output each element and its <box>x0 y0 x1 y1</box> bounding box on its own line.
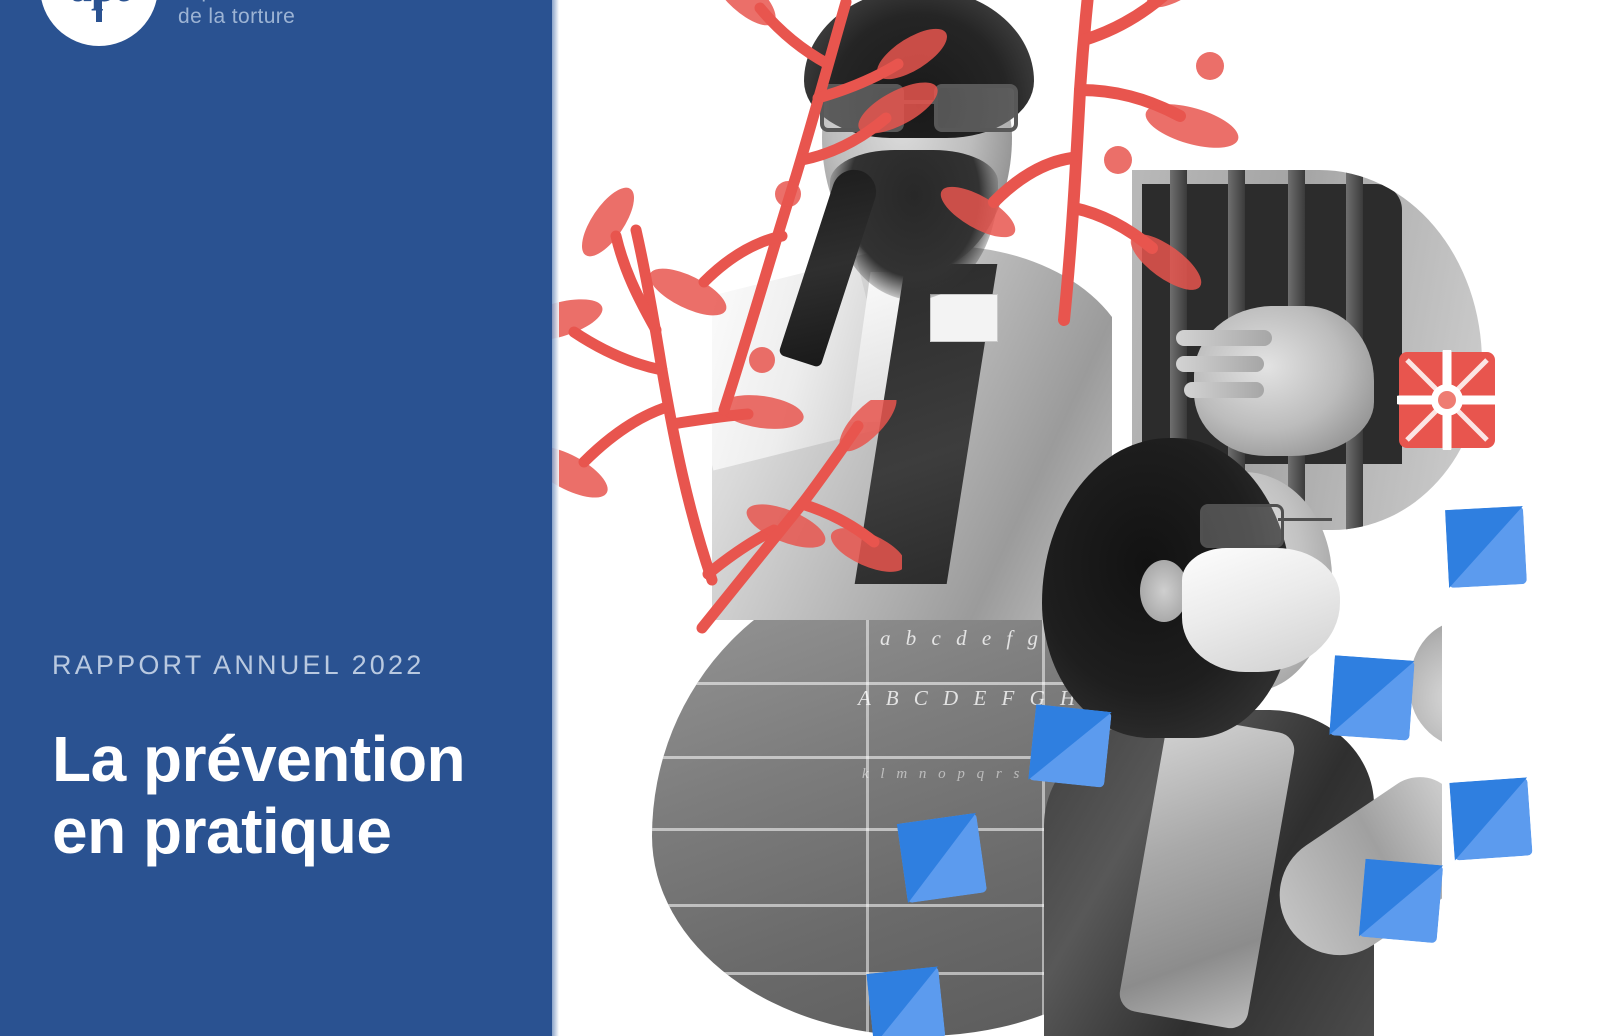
finger <box>1184 382 1264 398</box>
apt-logo: apt la prévention de la torture <box>40 0 303 46</box>
blue-diagonal-square-icon <box>1329 655 1414 740</box>
panel-edge-highlight <box>552 0 559 1036</box>
apt-logo-tagline: la prévention de la torture <box>178 0 303 30</box>
report-cover: Alphabet Ecriture a b c d e f g h i j A … <box>0 0 1600 1036</box>
page-title-line-2: en pratique <box>52 796 522 868</box>
speaker-name-badge <box>930 294 998 342</box>
blackboard-gridline <box>866 560 869 1036</box>
woman-ear <box>1140 560 1188 622</box>
glasses-bridge <box>904 100 934 104</box>
report-kicker: RAPPORT ANNUEL 2022 <box>52 650 522 681</box>
blue-diagonal-square-icon <box>897 813 987 903</box>
finger <box>1176 330 1272 346</box>
finger <box>1176 356 1264 372</box>
face-mask <box>1182 548 1340 672</box>
blue-diagonal-square-icon <box>1028 704 1112 788</box>
photo-collage: Alphabet Ecriture a b c d e f g h i j A … <box>552 0 1600 1036</box>
red-flower-square-icon <box>1397 350 1497 450</box>
blue-diagonal-square-icon <box>866 966 945 1036</box>
blue-diagonal-square-icon <box>1445 506 1527 588</box>
apt-logo-stem <box>96 0 102 22</box>
blue-diagonal-square-icon <box>1449 777 1532 860</box>
woman-glasses <box>1200 504 1334 544</box>
woman-hand <box>1410 620 1442 750</box>
speaker-glasses <box>816 84 1022 126</box>
blue-diagonal-square-icon <box>1359 859 1444 944</box>
page-title-line-1: La prévention <box>52 723 465 795</box>
cover-title-block: RAPPORT ANNUEL 2022 La prévention en pra… <box>52 650 522 910</box>
chalk-line-3: k l m n o p q r s t <box>862 766 1039 783</box>
apt-tagline-line-2: de la torture <box>178 4 303 30</box>
page-title: La prévention en pratique <box>52 724 522 867</box>
apt-logo-mark: apt <box>40 0 158 46</box>
